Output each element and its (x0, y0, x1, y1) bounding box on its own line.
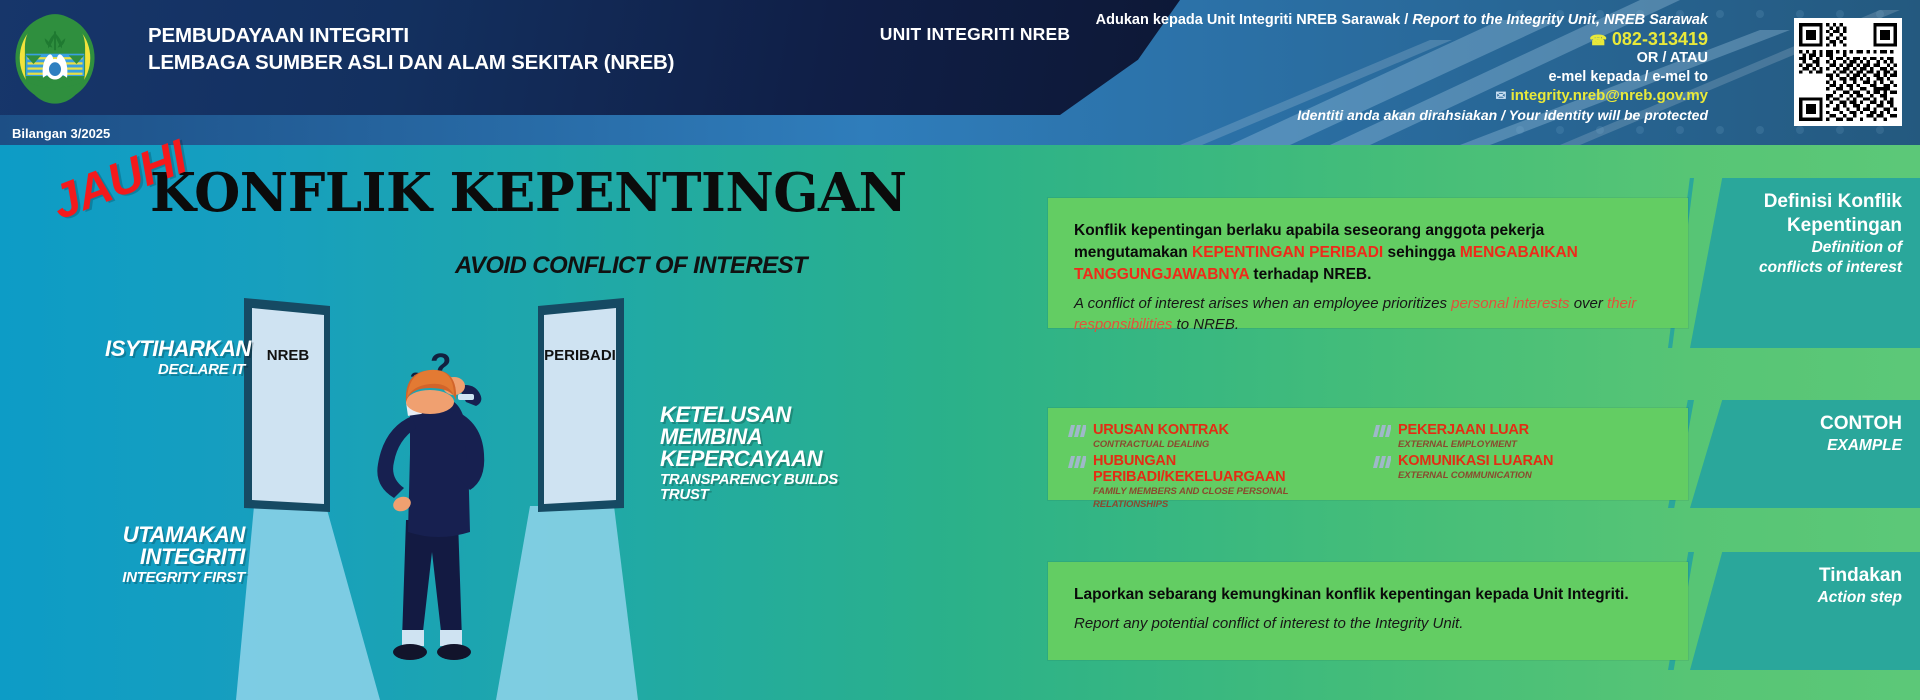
tab-action-en: Action step (1750, 588, 1902, 608)
door-peribadi (538, 298, 624, 512)
example-en: CONTRACTUAL DEALING (1093, 438, 1229, 451)
tab-definition-en: Definition of conflicts of interest (1750, 238, 1902, 278)
action-body-bm: Laporkan sebarang kemungkinan konflik ke… (1074, 584, 1662, 606)
triple-bar-bullet-icon (1068, 425, 1086, 437)
definition-bm-part3: terhadap NREB. (1249, 266, 1371, 283)
label-declare: ISYTIHARKAN DECLARE IT (105, 338, 245, 377)
issue-number: Bilangan 3/2025 (12, 126, 110, 141)
example-item: HUBUNGAN PERIBADI/KEKELUARGAAN FAMILY ME… (1068, 453, 1363, 511)
triple-bar-bullet-icon (1373, 456, 1391, 468)
door-right-label: PERIBADI (544, 347, 616, 364)
definition-bm-highlight1: KEPENTINGAN PERIBADI (1192, 244, 1383, 261)
tab-examples-bm: CONTOH (1750, 412, 1902, 436)
triple-bar-bullet-icon (1068, 456, 1086, 468)
contact-block: Adukan kepada Unit Integriti NREB Sarawa… (1048, 12, 1708, 124)
contact-report-en: Report to the Integrity Unit, NREB Saraw… (1412, 12, 1708, 28)
label-integrity-en: INTEGRITY FIRST (30, 570, 245, 585)
contact-phone: 082-313419 (1612, 29, 1708, 49)
definition-en-part2: over (1570, 295, 1608, 312)
triple-bar-bullet-icon (1373, 425, 1391, 437)
light-beam-right (496, 506, 638, 700)
contact-report-line: Adukan kepada Unit Integriti NREB Sarawa… (1048, 12, 1708, 30)
examples-grid: URUSAN KONTRAK CONTRACTUAL DEALING PEKER… (1048, 408, 1688, 500)
contact-phone-line[interactable]: ☎ 082-313419 (1048, 31, 1708, 50)
qr-code-icon (1799, 23, 1897, 121)
hero-title: KONFLIK KEPENTINGAN (150, 162, 907, 224)
door-left-label: NREB (267, 347, 310, 364)
label-trust-bm-1: KETELUSAN MEMBINA (660, 404, 890, 448)
conflict-illustration: NREB PERIBADI ? ? ? (230, 290, 650, 700)
mail-icon: ✉ (1495, 88, 1506, 103)
contact-privacy-note: Identiti anda akan dirahsiakan / Your id… (1048, 107, 1708, 125)
label-trust-en: TRANSPARENCY BUILDS TRUST (660, 472, 890, 502)
action-body-en: Report any potential conflict of interes… (1074, 613, 1662, 634)
example-item: KOMUNIKASI LUARAN EXTERNAL COMMUNICATION (1373, 453, 1668, 511)
tab-action: Tindakan Action step (1690, 552, 1920, 670)
definition-bm-part2: sehingga (1383, 244, 1460, 261)
example-bm: KOMUNIKASI LUARAN (1398, 453, 1553, 469)
contact-or: OR / ATAU (1048, 50, 1708, 68)
contact-email-line[interactable]: ✉ integrity.nreb@nreb.gov.my (1048, 87, 1708, 105)
header-title-line2: LEMBAGA SUMBER ASLI DAN ALAM SEKITAR (NR… (148, 49, 674, 76)
poster: PEMBUDAYAAN INTEGRITI LEMBAGA SUMBER ASL… (0, 0, 1920, 700)
panel-action: Laporkan sebarang kemungkinan konflik ke… (1048, 562, 1688, 660)
definition-en-highlight1: personal interests (1451, 295, 1569, 312)
example-en: EXTERNAL COMMUNICATION (1398, 469, 1553, 482)
phone-icon: ☎ (1589, 32, 1606, 48)
example-item: URUSAN KONTRAK CONTRACTUAL DEALING (1068, 422, 1363, 451)
light-beam-left (236, 506, 380, 700)
label-integrity-bm: UTAMAKAN INTEGRITI (30, 524, 245, 568)
definition-en-part3: to NREB. (1172, 316, 1239, 333)
example-bm: PEKERJAAN LUAR (1398, 422, 1529, 438)
header-title: PEMBUDAYAAN INTEGRITI LEMBAGA SUMBER ASL… (148, 22, 674, 76)
tab-examples: CONTOH EXAMPLE (1690, 400, 1920, 508)
definition-body-en: A conflict of interest arises when an em… (1074, 293, 1662, 335)
contact-separator: / (1400, 12, 1412, 28)
door-nreb (244, 298, 330, 512)
definition-en-part1: A conflict of interest arises when an em… (1074, 295, 1451, 312)
panel-definition: Konflik kepentingan berlaku apabila sese… (1048, 198, 1688, 328)
label-transparency: KETELUSAN MEMBINA KEPERCAYAAN TRANSPAREN… (660, 404, 890, 502)
header-title-line1: PEMBUDAYAAN INTEGRITI (148, 22, 674, 49)
contact-email-label: e-mel kepada / e-mel to (1048, 69, 1708, 87)
example-en: EXTERNAL EMPLOYMENT (1398, 438, 1529, 451)
hero-subtitle: AVOID CONFLICT OF INTEREST (455, 252, 807, 280)
nreb-logo-icon (12, 12, 98, 104)
contact-email: integrity.nreb@nreb.gov.my (1511, 87, 1708, 104)
label-declare-en: DECLARE IT (105, 362, 245, 377)
example-en: FAMILY MEMBERS AND CLOSE PERSONAL RELATI… (1093, 485, 1363, 511)
tab-definition: Definisi Konflik Kepentingan Definition … (1690, 178, 1920, 348)
page-header: PEMBUDAYAAN INTEGRITI LEMBAGA SUMBER ASL… (0, 0, 1920, 145)
definition-body-bm: Konflik kepentingan berlaku apabila sese… (1074, 220, 1662, 286)
contact-report-bm: Adukan kepada Unit Integriti NREB Sarawa… (1096, 12, 1401, 28)
example-bm: URUSAN KONTRAK (1093, 422, 1229, 438)
qr-code[interactable] (1794, 18, 1902, 126)
label-integrity-first: UTAMAKAN INTEGRITI INTEGRITY FIRST (30, 524, 245, 585)
label-trust-bm-2: KEPERCAYAAN (660, 448, 890, 470)
tab-action-bm: Tindakan (1750, 564, 1902, 588)
label-declare-bm: ISYTIHARKAN (105, 338, 245, 360)
example-bm: HUBUNGAN PERIBADI/KEKELUARGAAN (1093, 453, 1363, 485)
tab-definition-bm: Definisi Konflik Kepentingan (1750, 190, 1902, 238)
tab-examples-en: EXAMPLE (1750, 436, 1902, 456)
example-item: PEKERJAAN LUAR EXTERNAL EMPLOYMENT (1373, 422, 1668, 451)
